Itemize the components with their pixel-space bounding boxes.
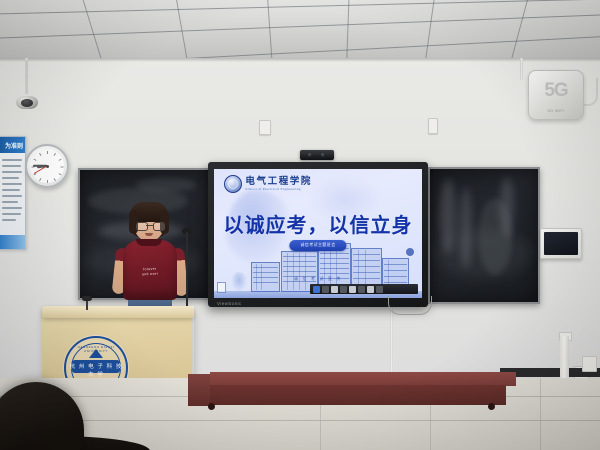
dome-camera-icon <box>16 92 38 109</box>
taskbar-item[interactable] <box>358 286 365 293</box>
campus-emblem-dot <box>406 248 414 256</box>
clock-center-pin <box>46 165 49 168</box>
clock-face <box>30 149 64 183</box>
stage-left-segment <box>188 374 212 406</box>
camera-lens <box>21 99 33 107</box>
poster-footer-bar <box>0 235 25 249</box>
camera-stem <box>26 60 28 94</box>
display-screen[interactable]: 电气工程学院 School of Electrical Engineering <box>214 169 422 298</box>
raised-stage-platform <box>196 372 516 418</box>
poster-heading: 为准则 <box>5 141 23 150</box>
taskbar-item[interactable] <box>349 286 356 293</box>
taskbar-item[interactable] <box>340 286 347 293</box>
stage-cable-hole <box>488 403 495 410</box>
slide-org-names: 电气工程学院 School of Electrical Engineering <box>245 177 312 191</box>
taskbar-item[interactable] <box>313 286 320 293</box>
slide-main-title: 以诚应考，以信立身 <box>214 209 422 238</box>
presentation-slide: 电气工程学院 School of Electrical Engineering <box>214 169 422 298</box>
wireless-access-point: 5G 5G WIFI <box>528 70 584 120</box>
video-conference-camera <box>300 150 334 160</box>
stage-top-surface <box>210 372 516 386</box>
campus-tree <box>231 272 247 292</box>
taskbar-item[interactable] <box>376 286 383 293</box>
taskbar-item[interactable] <box>322 286 329 293</box>
chalkboard-right <box>428 167 540 304</box>
stage-cable-hole <box>208 403 215 410</box>
classroom-display[interactable]: ViewSonic 电气工程学院 School of Electrical En… <box>208 162 428 307</box>
cable-hook <box>388 296 432 315</box>
podium-top-surface <box>42 306 194 318</box>
slide-org-en: School of Electrical Engineering <box>245 188 312 191</box>
slide-subtitle-badge: 诚信考试主题班会 <box>289 240 346 251</box>
display-brand-label: ViewSonic <box>217 301 242 306</box>
wall-poster-board: 为准则 <box>0 136 26 250</box>
taskbar-item[interactable] <box>367 286 374 293</box>
wall-clock <box>25 144 69 188</box>
presenter-collar <box>136 239 162 246</box>
floor-microphone-stand <box>186 232 188 310</box>
slide-corner-marker <box>217 282 226 293</box>
emblem-year: 1956 <box>66 355 126 359</box>
ceiling-grid <box>0 0 600 62</box>
wall-ceiling-shadow <box>0 58 600 62</box>
slide-org-cn: 电气工程学院 <box>245 177 312 187</box>
floor-outlet-plate[interactable] <box>582 356 597 372</box>
wall-control-tablet[interactable] <box>540 228 582 259</box>
emblem-band-text: 杭 州 电 子 科 技 大 学 <box>66 362 126 378</box>
glasses-icon <box>136 222 163 229</box>
podium-microphone-stem <box>86 300 88 310</box>
classroom-photo-scene: 5G 5G WIFI 为准则 <box>0 0 600 450</box>
podium-microphone <box>82 296 92 301</box>
floor-utility-post <box>560 336 569 378</box>
ap-brand-label: 5G WIFI <box>529 108 583 113</box>
presenter-tshirt: forever and ever <box>123 240 177 300</box>
taskbar-item[interactable] <box>331 286 338 293</box>
desktop-taskbar[interactable] <box>310 284 418 294</box>
ap-5g-glyph: 5G <box>529 80 583 102</box>
wall-switch-plate[interactable] <box>259 120 271 135</box>
tablet-screen[interactable] <box>544 232 578 255</box>
slide-org-header: 电气工程学院 School of Electrical Engineering <box>224 175 312 193</box>
tshirt-graphic-text: forever and ever <box>123 266 177 278</box>
ap-cable <box>582 78 598 106</box>
university-seal-icon <box>224 175 242 193</box>
wall-switch-plate[interactable] <box>428 118 438 134</box>
wall-conduit <box>520 58 523 80</box>
presenter-mouth <box>145 233 153 236</box>
stage-front-face <box>210 385 506 405</box>
slide-footer-text: 诚 信 考 试 宣 传 <box>214 276 422 282</box>
